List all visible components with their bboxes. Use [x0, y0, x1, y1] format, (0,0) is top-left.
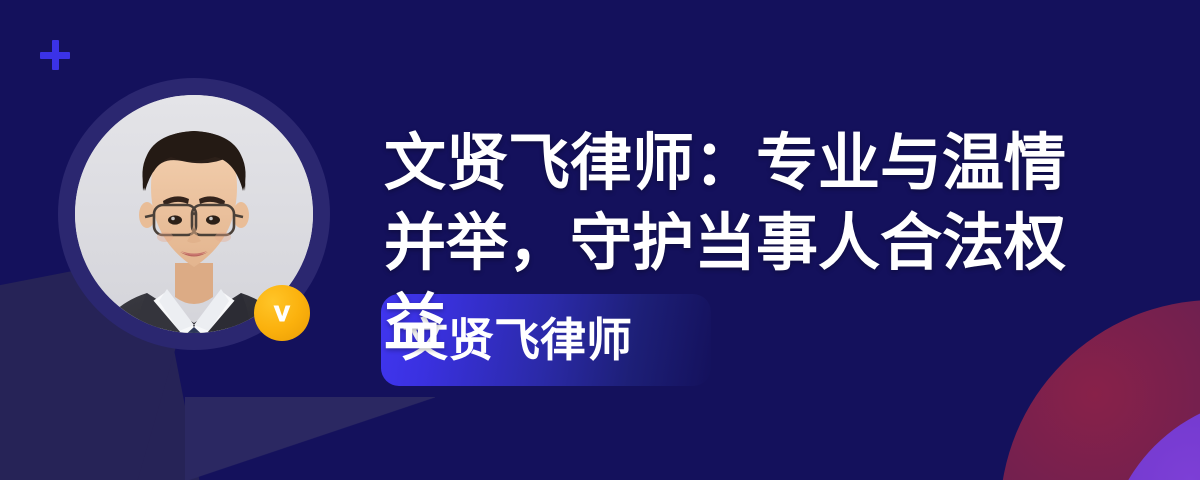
plus-icon	[40, 40, 70, 70]
page-title: 文贤飞律师：专业与温情并举，守护当事人合法权益	[384, 124, 1104, 364]
verified-v-glyph	[267, 298, 297, 328]
triangle-wedge-shape	[185, 397, 435, 480]
plus-icon-vertical-bar	[52, 40, 59, 70]
lawyer-profile-banner: 文贤飞律师：专业与温情并举，守护当事人合法权益 文贤飞律师	[0, 0, 1200, 480]
verified-v-icon	[254, 285, 310, 341]
purple-gradient-blob	[1105, 396, 1200, 480]
avatar[interactable]	[58, 78, 330, 350]
